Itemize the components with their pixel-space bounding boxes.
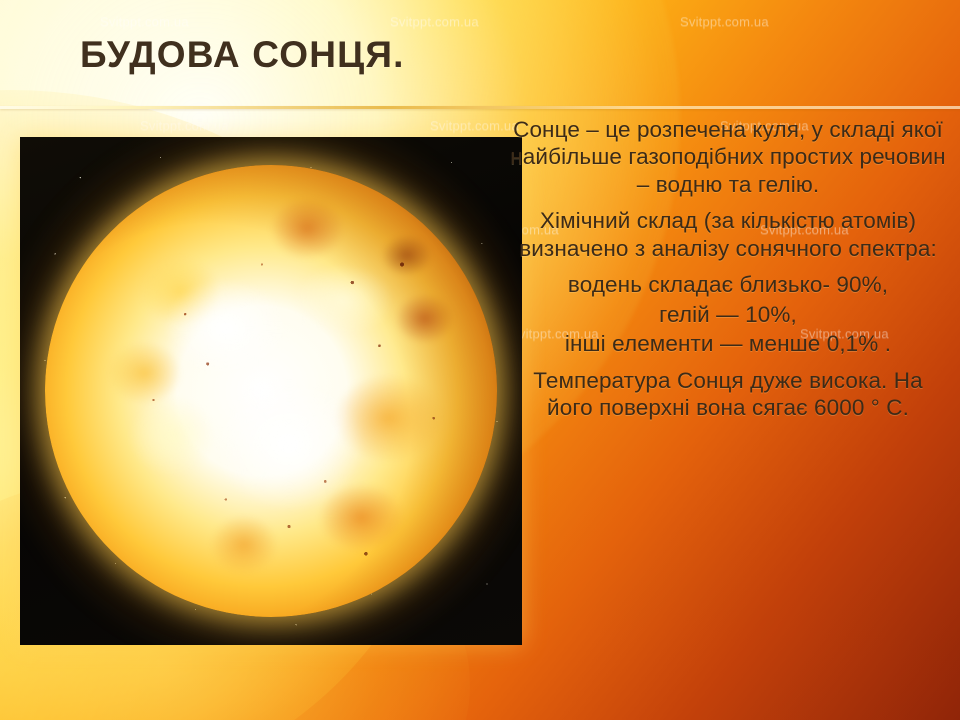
sun-image <box>20 137 522 645</box>
paragraph-composition: Хімічний склад (за кількістю атомів) виз… <box>508 207 948 262</box>
sun-limb-shadow <box>45 165 497 617</box>
paragraph-temperature: Температура Сонця дуже висока. На його п… <box>508 367 948 422</box>
body-text: Сонце – це розпечена куля, у складі якої… <box>508 116 948 427</box>
paragraph-other-elements: інші елементи — менше 0,1% . <box>508 330 948 357</box>
page-title: БУДОВА СОНЦЯ. <box>80 34 405 76</box>
sun-disk <box>45 165 497 617</box>
paragraph-hydrogen: водень складає близько- 90%, <box>508 271 948 298</box>
paragraph-helium: гелій — 10%, <box>508 301 948 328</box>
slide: Svitppt.com.uaSvitppt.com.uaSvitppt.com.… <box>0 0 960 720</box>
title-divider <box>0 106 960 109</box>
paragraph-intro: Сонце – це розпечена куля, у складі якої… <box>508 116 948 198</box>
